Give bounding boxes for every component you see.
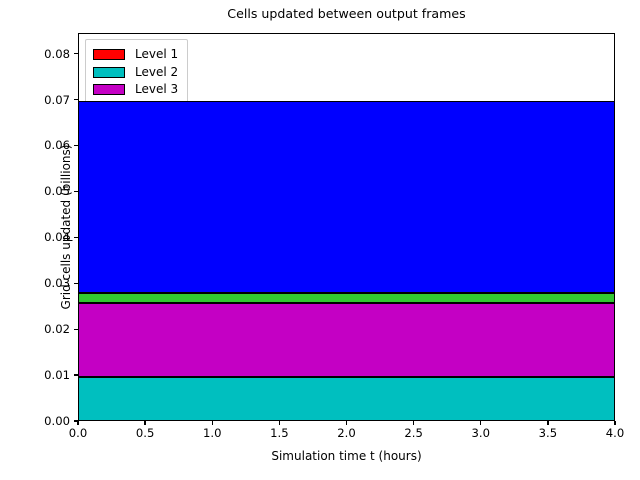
x-tick-mark [212,421,213,425]
x-tick-label: 0.5 [136,427,154,440]
legend-swatch-icon [93,84,125,95]
x-tick-mark [144,421,145,425]
y-tick-mark [74,99,78,100]
y-axis-label: Grid cells updated (billions) [59,33,73,421]
y-tick-mark [74,283,78,284]
x-tick-mark [279,421,280,425]
x-tick-mark [547,421,548,425]
x-tick-label: 3.5 [539,427,557,440]
x-tick-label: 4.0 [606,427,624,440]
y-tick-mark [74,374,78,375]
y-tick-mark [74,329,78,330]
area-band [78,293,615,303]
x-tick-mark [480,421,481,425]
area-band [78,377,615,421]
x-axis-label: Simulation time t (hours) [78,449,615,463]
area-band [78,303,615,377]
y-tick-mark [74,145,78,146]
y-tick-mark [74,191,78,192]
x-tick-label: 3.0 [472,427,490,440]
legend-item[interactable]: Level 3 [93,81,178,99]
legend-swatch-icon [93,67,125,78]
legend-item-label: Level 2 [135,66,178,79]
x-tick-label: 1.5 [270,427,288,440]
x-tick-label: 2.5 [404,427,422,440]
x-tick-mark [413,421,414,425]
legend-swatch-icon [93,49,125,60]
x-tick-mark [346,421,347,425]
y-tick-mark [74,237,78,238]
legend-item-label: Level 3 [135,83,178,96]
legend-item[interactable]: Level 1 [93,46,178,64]
legend-item[interactable]: Level 2 [93,64,178,82]
x-tick-label: 0.0 [69,427,87,440]
legend-item-label: Level 1 [135,48,178,61]
chart-title: Cells updated between output frames [78,6,615,22]
x-tick-label: 1.0 [203,427,221,440]
x-tick-mark [614,421,615,425]
chart-figure: Cells updated between output frames 0.00… [0,0,640,480]
x-tick-label: 2.0 [337,427,355,440]
x-tick-mark [77,421,78,425]
y-tick-mark [74,53,78,54]
area-band [78,101,615,293]
